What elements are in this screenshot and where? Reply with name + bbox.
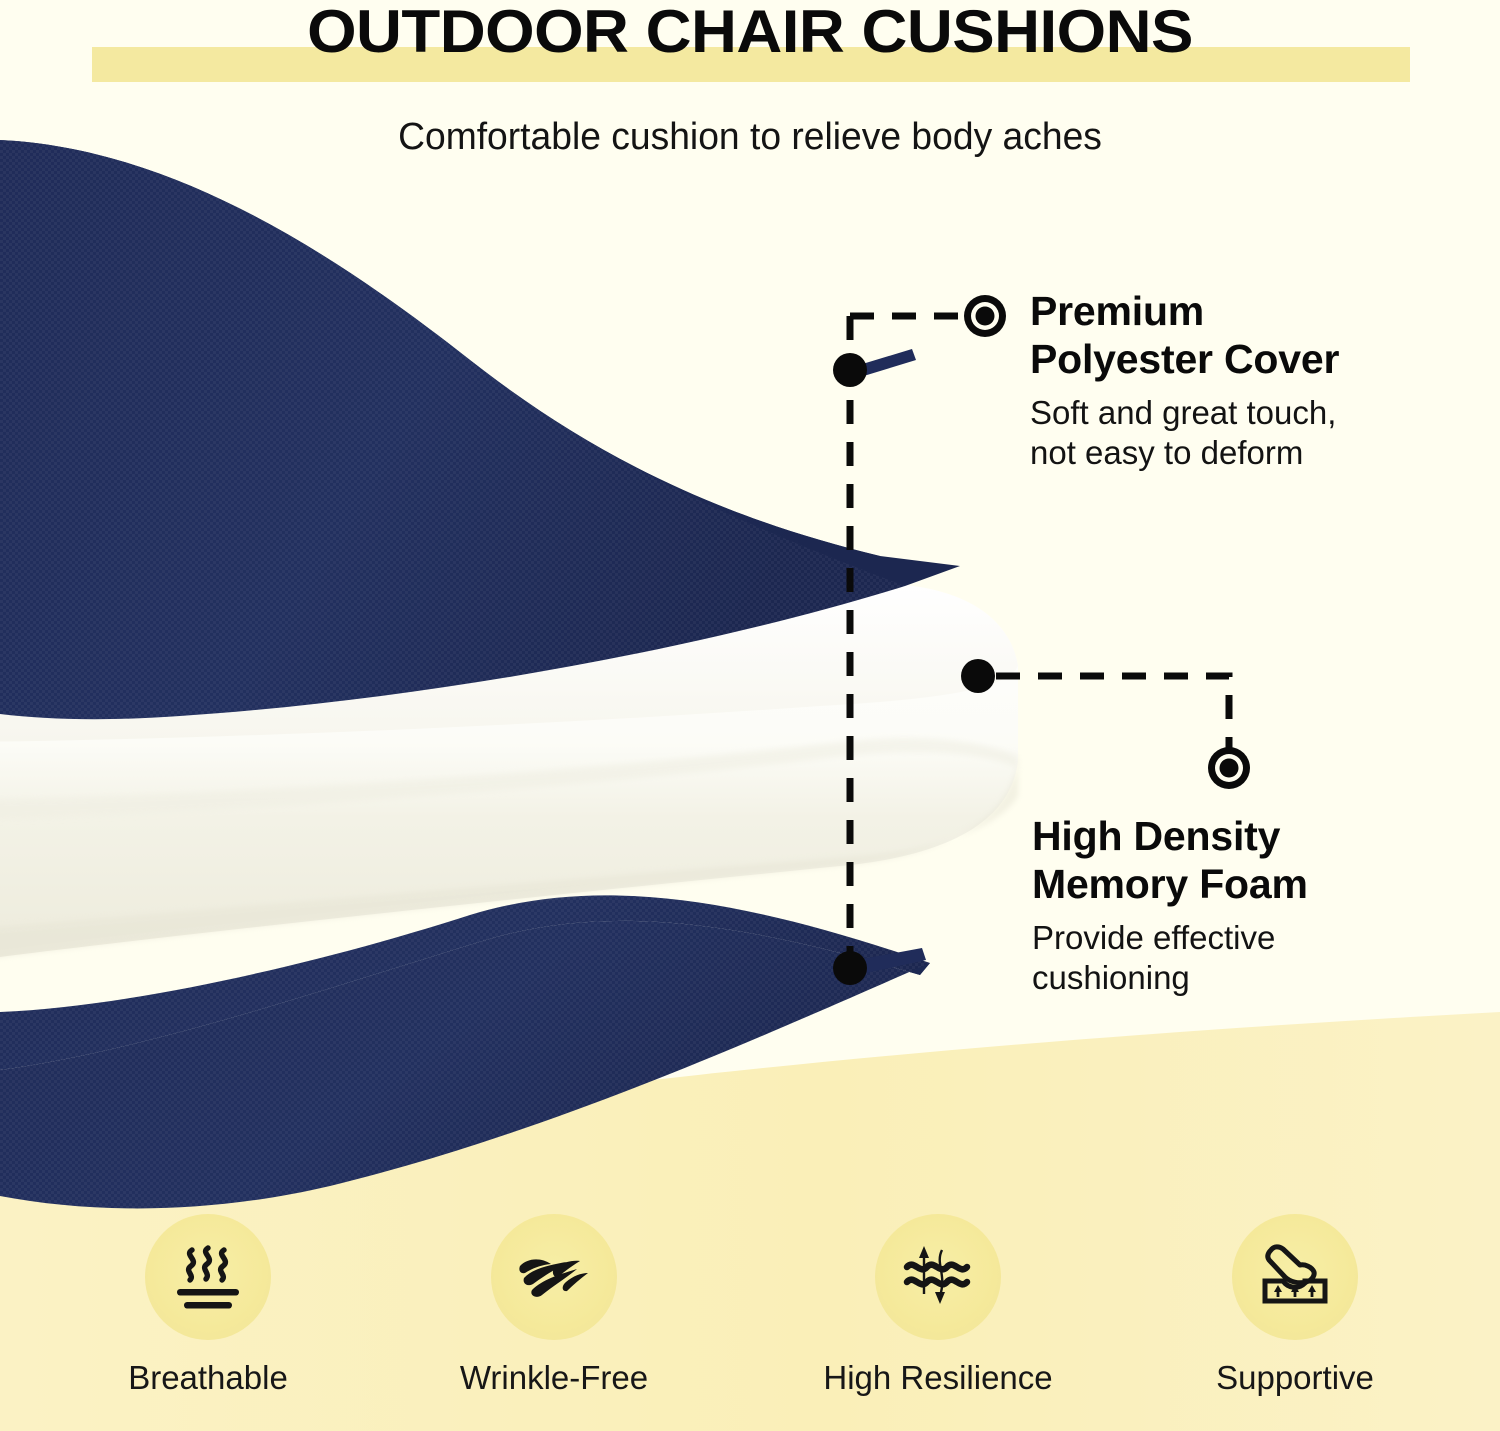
hand-pressing-foam-icon [1252, 1234, 1338, 1320]
target-dot-icon-2 [1208, 747, 1250, 789]
callout-description: Soft and great touch, not easy to deform [1030, 393, 1450, 474]
feature-label: High Resilience [793, 1359, 1083, 1397]
steam-lines-icon [165, 1234, 251, 1320]
anchor-dot-cover-top [833, 353, 867, 387]
callout-title: High Density Memory Foam [1032, 812, 1432, 909]
feature-icon-circle [875, 1214, 1001, 1340]
feature-icon-circle [145, 1214, 271, 1340]
feature-wrinkle-free: Wrinkle-Free [409, 1196, 699, 1397]
feature-strip: Breathable Wrinkle-Free [0, 1196, 1500, 1431]
header: OUTDOOR CHAIR CUSHIONS [0, 0, 1500, 96]
callout-high-density-memory-foam: High Density Memory Foam Provide effecti… [1032, 812, 1432, 999]
feature-high-resilience: High Resilience [793, 1196, 1083, 1397]
feature-icon-circle [1232, 1214, 1358, 1340]
target-dot-icon-1 [964, 295, 1006, 337]
product-infographic: OUTDOOR CHAIR CUSHIONS Comfortable cushi… [0, 0, 1500, 1431]
smooth-waves-icon [511, 1234, 597, 1320]
callout-premium-polyester-cover: Premium Polyester Cover Soft and great t… [1030, 287, 1450, 474]
anchor-dot-foam [961, 659, 995, 693]
feature-label: Breathable [63, 1359, 353, 1397]
anchor-dot-cover-bottom [833, 951, 867, 985]
feature-label: Wrinkle-Free [409, 1359, 699, 1397]
page-subtitle: Comfortable cushion to relieve body ache… [15, 116, 1485, 159]
callout-description: Provide effective cushioning [1032, 918, 1432, 999]
wavy-layers-arrows-icon [895, 1234, 981, 1320]
feature-icon-circle [491, 1214, 617, 1340]
feature-breathable: Breathable [63, 1196, 353, 1397]
callout-title: Premium Polyester Cover [1030, 287, 1450, 384]
page-title: OUTDOOR CHAIR CUSHIONS [0, 2, 1500, 62]
feature-label: Supportive [1150, 1359, 1440, 1397]
feature-supportive: Supportive [1150, 1196, 1440, 1397]
